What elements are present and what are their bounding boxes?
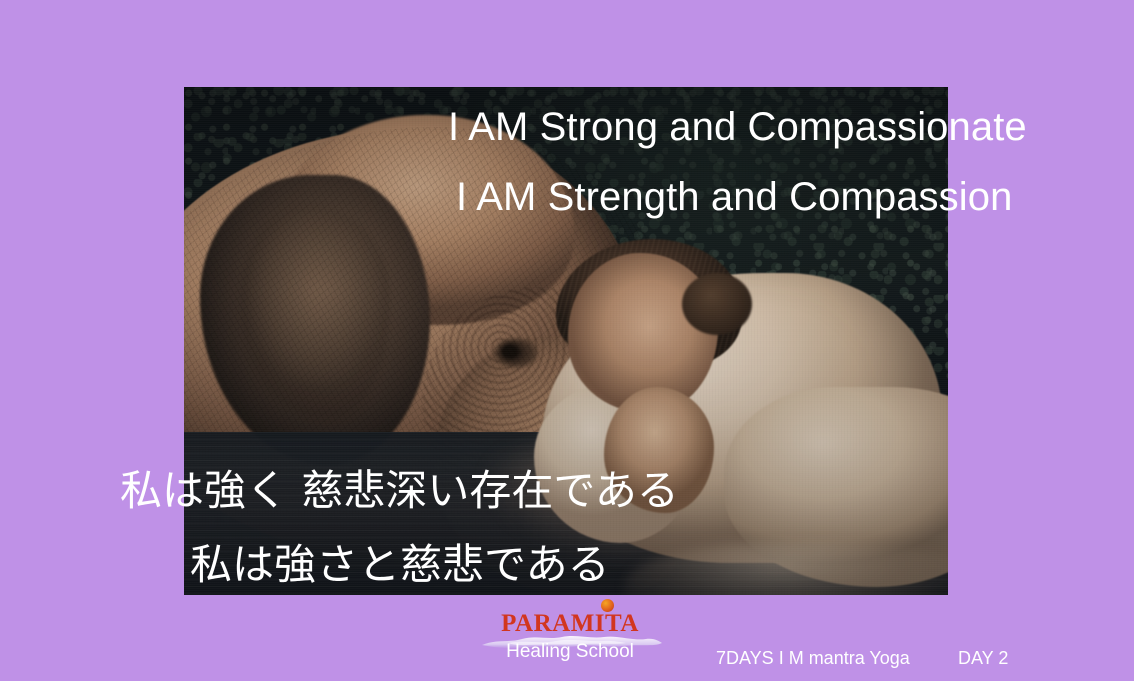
affirmation-english-line-2: I AM Strength and Compassion xyxy=(456,176,1012,218)
course-title-label: 7DAYS I M mantra Yoga xyxy=(716,648,910,669)
day-number-label: DAY 2 xyxy=(958,648,1008,669)
girl-hair-bun xyxy=(682,273,752,335)
slide-canvas: I AM Strong and Compassionate I AM Stren… xyxy=(0,0,1134,681)
affirmation-english-line-1: I AM Strong and Compassionate xyxy=(448,106,1027,148)
elephant-and-girl-photo xyxy=(184,87,948,595)
affirmation-japanese-line-2: 私は強さと慈悲である xyxy=(190,542,610,587)
paramita-logo: Paramita Healing School xyxy=(470,598,670,678)
paramita-logo-subtitle: Healing School xyxy=(470,642,670,661)
logo-sun-dot-icon xyxy=(601,599,614,612)
affirmation-japanese-line-1: 私は強く 慈悲深い存在である xyxy=(120,468,679,513)
